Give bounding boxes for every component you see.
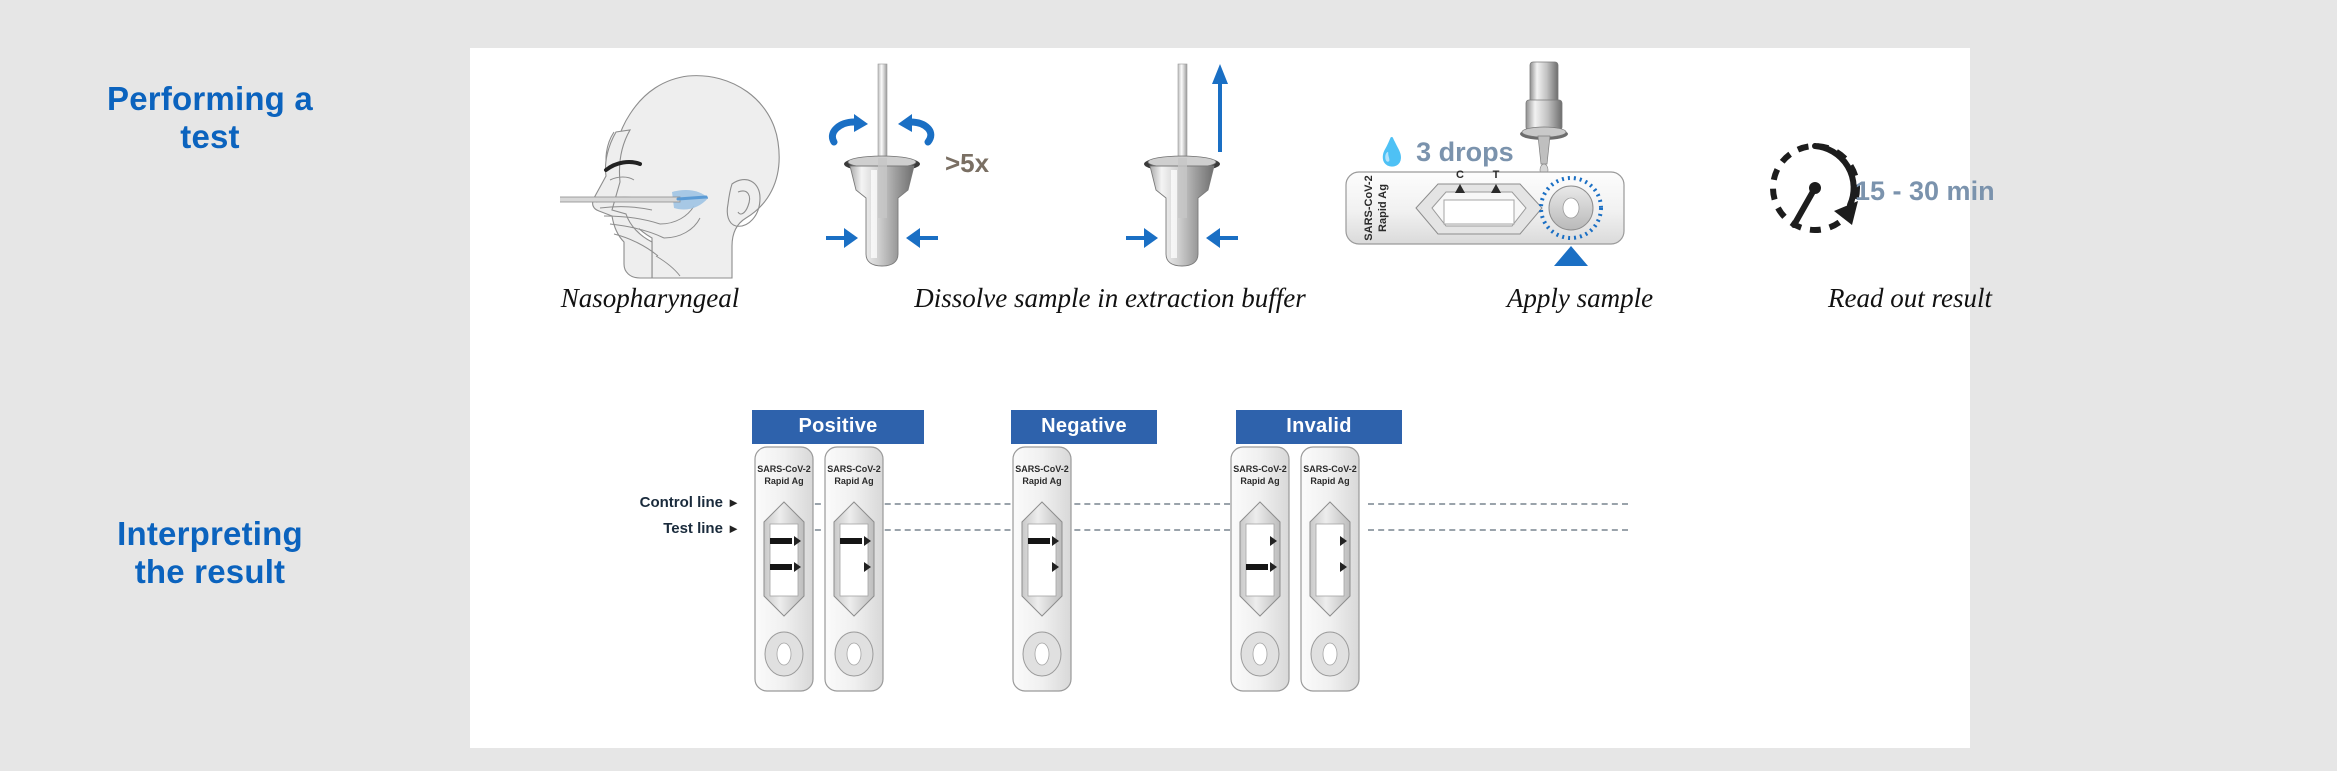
result-cassette-negative-1: SARS-CoV-2 Rapid Ag (1010, 444, 1074, 694)
rotate-count-label: >5x (945, 148, 989, 179)
step-caption-nasopharyngeal: Nasopharyngeal (470, 283, 830, 314)
control-line-label: Control line ► (550, 494, 740, 511)
section-heading-performing-a-test: Performing a test (30, 80, 390, 156)
drops-label: 💧 3 drops (1375, 136, 1514, 168)
step-caption-apply-sample: Apply sample (1400, 283, 1760, 314)
interpreting-results-row: Positive Negative Invalid Control line ►… (470, 408, 1970, 748)
svg-text:Rapid Ag: Rapid Ag (1022, 476, 1061, 486)
test-line-label-text: Test line (663, 520, 723, 537)
heading-line-1: Performing a (30, 80, 390, 118)
result-badge-negative: Negative (1011, 410, 1157, 444)
result-badge-positive: Positive (752, 410, 924, 444)
svg-text:SARS-CoV-2: SARS-CoV-2 (1233, 464, 1287, 474)
result-cassette-invalid-2: SARS-CoV-2 Rapid Ag (1298, 444, 1362, 694)
test-line-guide-right (1368, 529, 1628, 531)
result-cassette-positive-1: SARS-CoV-2 Rapid Ag (752, 444, 816, 694)
section-heading-interpreting-the-result: Interpreting the result (30, 515, 390, 591)
svg-text:Rapid Ag: Rapid Ag (1377, 184, 1389, 232)
heading-line-2: the result (30, 553, 390, 591)
readout-time-label: 15 - 30 min (1855, 176, 1995, 207)
extraction-tube-icon (770, 58, 1390, 278)
result-cassette-positive-2: SARS-CoV-2 Rapid Ag (822, 444, 886, 694)
heading-line-1: Interpreting (30, 515, 390, 553)
step-caption-dissolve: Dissolve sample in extraction buffer (810, 283, 1410, 314)
content-panel: >5x (470, 48, 1970, 748)
svg-text:SARS-CoV-2: SARS-CoV-2 (1363, 175, 1375, 240)
svg-text:SARS-CoV-2: SARS-CoV-2 (757, 464, 811, 474)
svg-text:SARS-CoV-2: SARS-CoV-2 (827, 464, 881, 474)
result-cassette-invalid-1: SARS-CoV-2 Rapid Ag (1228, 444, 1292, 694)
drops-label-text: 3 drops (1416, 137, 1514, 167)
svg-text:T: T (1493, 169, 1500, 181)
svg-text:C: C (1456, 169, 1464, 181)
droplet-icon: 💧 (1375, 137, 1409, 167)
heading-line-2: test (30, 118, 390, 156)
control-line-label-text: Control line (640, 494, 723, 511)
control-line-guide-right (1368, 503, 1628, 505)
performing-steps-row: >5x (470, 48, 1970, 378)
step-caption-read-out-result: Read out result (1740, 283, 2080, 314)
svg-text:Rapid Ag: Rapid Ag (834, 476, 873, 486)
svg-text:Rapid Ag: Rapid Ag (764, 476, 803, 486)
svg-text:Rapid Ag: Rapid Ag (1240, 476, 1279, 486)
page-root: Performing a test Interpreting the resul… (0, 0, 2337, 771)
clock-timer-icon (1760, 133, 1870, 243)
test-line-label: Test line ► (550, 520, 740, 537)
svg-text:Rapid Ag: Rapid Ag (1310, 476, 1349, 486)
arrow-right-icon: ► (727, 495, 740, 510)
svg-text:SARS-CoV-2: SARS-CoV-2 (1015, 464, 1069, 474)
arrow-right-icon: ► (727, 521, 740, 536)
result-badge-invalid: Invalid (1236, 410, 1402, 444)
svg-text:SARS-CoV-2: SARS-CoV-2 (1303, 464, 1357, 474)
